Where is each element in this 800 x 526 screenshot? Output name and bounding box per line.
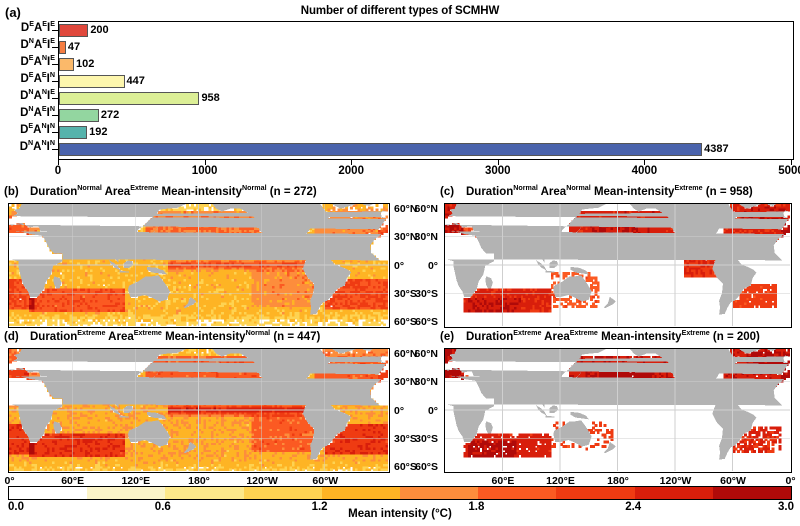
colorbar-segment [556,487,634,499]
bar-category-label: DEAEIN [20,73,55,85]
x-tick-label: 5000 [778,165,800,177]
map-panel-e-title: DurationExtreme AreaExtreme Mean-intensi… [466,331,760,343]
bar [59,109,99,122]
colorbar-title: Mean intensity (°C) [0,508,800,520]
x-tick-label: 0 [55,165,61,177]
bar [59,143,702,156]
bar-row: 192 [59,124,792,141]
bar-row: 47 [59,39,792,56]
map-panel-e-plot [444,348,792,473]
colorbar-segment [87,487,165,499]
bar-chart-plot-area: 200471024479582721924387 [58,21,794,160]
latitude-label: 60°S [404,461,438,473]
bar-row: 958 [59,90,792,107]
bar-value-label: 192 [89,126,107,138]
colorbar-segment [478,487,556,499]
bar-category-label: DNANIE [20,90,55,102]
colorbar-segment [165,487,243,499]
bar-category-label: DEAEIE [21,22,55,34]
map-panel-d-plot [8,348,390,473]
latitude-label: 30°S [404,288,438,300]
latitude-label: 60°N [404,348,438,360]
colorbar-segment [400,487,478,499]
map-panel-d-letter: (d) [4,331,19,343]
bar-row: 102 [59,56,792,73]
bar-value-label: 47 [68,41,80,53]
bar-category-label: DNANIN [20,141,55,153]
colorbar-segment [635,487,713,499]
latitude-label: 60°N [404,203,438,215]
bar-value-label: 102 [76,58,94,70]
x-tick-label: 3000 [485,165,511,177]
map-panel-c-title: DurationNormal AreaNormal Mean-intensity… [466,186,753,198]
bar-value-label: 447 [127,75,145,87]
panel-a-title: Number of different types of SCMHW [0,5,800,17]
panel-a-bar-chart: (a) Number of different types of SCMHW D… [0,0,800,182]
latitude-label: 0° [394,260,404,272]
map-panel-c-letter: (c) [440,186,454,198]
bar [59,75,125,88]
bar-category-label: DNAEIN [20,107,55,119]
colorbar-segment [244,487,322,499]
bar-value-label: 4387 [704,143,728,155]
colorbar-segment [322,487,400,499]
latitude-label: 0° [404,260,438,272]
bar-row: 447 [59,73,792,90]
bar-value-label: 272 [101,109,119,121]
colorbar-segment [9,487,87,499]
map-panel-c-plot [444,203,792,328]
latitude-label: 30°N [404,376,438,388]
latitude-label: 30°S [404,433,438,445]
map-panel-b-title: DurationNormal AreaExtreme Mean-intensit… [30,186,317,198]
bar [59,58,74,71]
bar-value-label: 200 [90,24,108,36]
bar-category-label: DNAEIE [20,39,55,51]
x-tick-label: 2000 [338,165,364,177]
colorbar [8,486,792,500]
bar-row: 200 [59,22,792,39]
bar-row: 4387 [59,141,792,158]
x-tick-label: 1000 [192,165,218,177]
map-panel-e-letter: (e) [440,331,454,343]
latitude-label: 0° [404,405,438,417]
map-panel-b-letter: (b) [4,186,19,198]
bar [59,92,199,105]
bar [59,24,88,37]
map-panel-d-title: DurationExtreme AreaExtreme Mean-intensi… [30,331,320,343]
bar-category-label: DEANIE [20,56,55,68]
colorbar-segment [713,487,791,499]
figure-root: (a) Number of different types of SCMHW D… [0,0,800,526]
bar-value-label: 958 [201,92,219,104]
latitude-label: 60°S [404,316,438,328]
x-tick-label: 4000 [632,165,658,177]
bar-row: 272 [59,107,792,124]
bar [59,126,87,139]
bar-category-label: DEANIN [20,124,55,136]
map-panel-b-plot [8,203,390,328]
bar [59,41,66,54]
latitude-label: 0° [394,405,404,417]
latitude-label: 30°N [404,231,438,243]
